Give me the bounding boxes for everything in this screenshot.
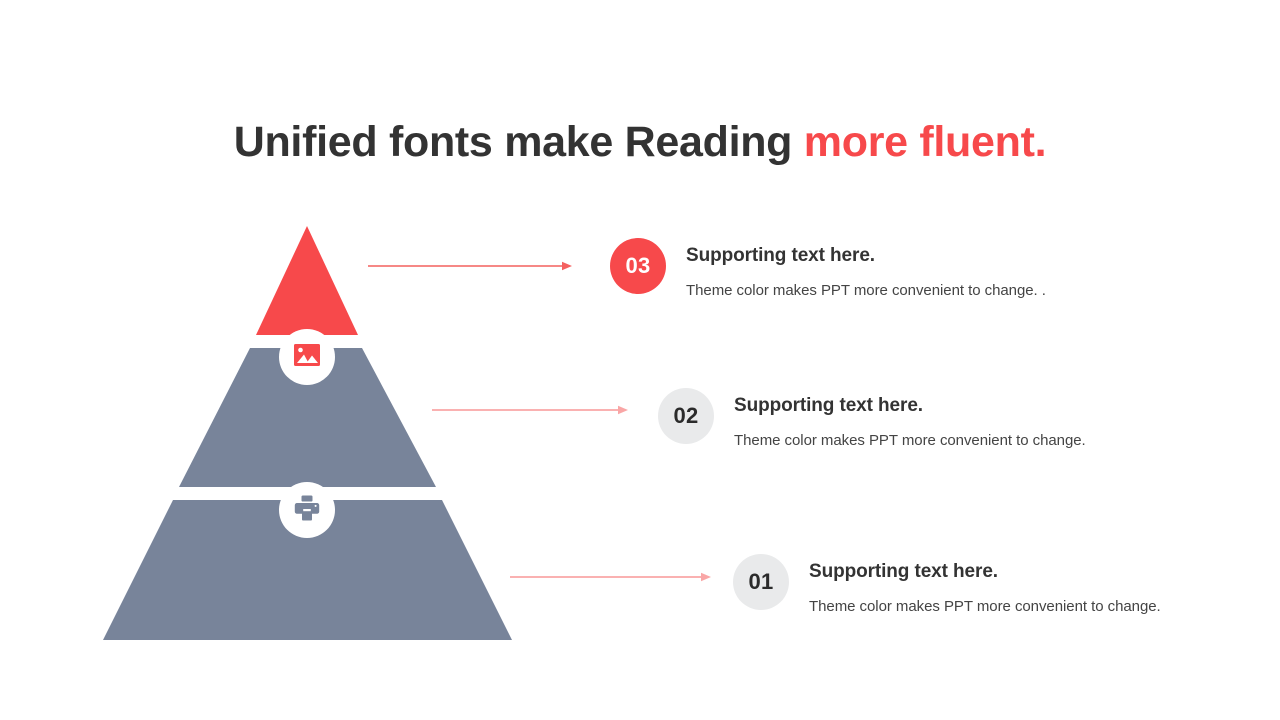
list-item-heading: Supporting text here.	[809, 561, 1161, 583]
status-badge: 03	[610, 238, 666, 294]
pyramid-icon-bubble-upper	[279, 329, 335, 385]
list-item-body: Theme color makes PPT more convenient to…	[686, 282, 1046, 299]
list-item-heading: Supporting text here.	[686, 245, 1046, 267]
list-item-text: Supporting text here. Theme color makes …	[734, 388, 1086, 449]
arrow-to-item-01	[510, 571, 715, 583]
arrow-to-item-02	[432, 404, 632, 416]
list-item-heading: Supporting text here.	[734, 395, 1086, 417]
list-item-body: Theme color makes PPT more convenient to…	[809, 598, 1161, 615]
pyramid-tier-3-apex	[256, 226, 358, 335]
list-item[interactable]: 03 Supporting text here. Theme color mak…	[610, 238, 1046, 299]
page-title-accent: more fluent.	[804, 118, 1046, 166]
pyramid-icon-bubble-lower	[279, 482, 335, 538]
list-item-text: Supporting text here. Theme color makes …	[686, 238, 1046, 299]
list-item[interactable]: 01 Supporting text here. Theme color mak…	[733, 554, 1161, 615]
list-item-body: Theme color makes PPT more convenient to…	[734, 432, 1086, 449]
image-icon	[294, 344, 320, 371]
printer-icon	[293, 494, 321, 527]
list-item-text: Supporting text here. Theme color makes …	[809, 554, 1161, 615]
list-item[interactable]: 02 Supporting text here. Theme color mak…	[658, 388, 1086, 449]
status-badge: 02	[658, 388, 714, 444]
page-title-base: Unified fonts make Reading	[234, 118, 804, 166]
status-badge: 01	[733, 554, 789, 610]
page-title: Unified fonts make Reading more fluent.	[0, 118, 1280, 167]
slide-canvas: Unified fonts make Reading more fluent.	[0, 0, 1280, 720]
arrow-to-item-03	[368, 260, 576, 272]
